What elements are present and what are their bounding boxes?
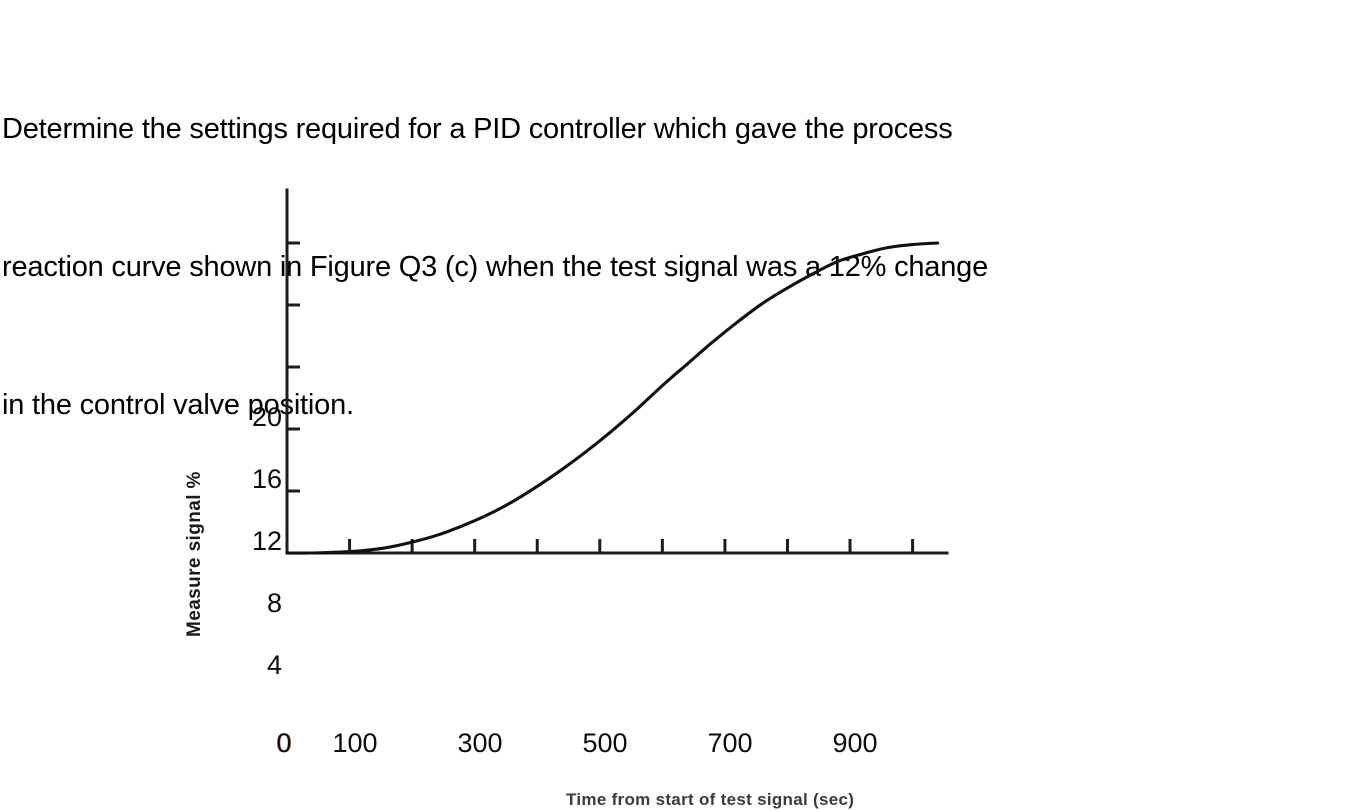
- x-tick-label-500: 500: [570, 728, 640, 759]
- plot-canvas: [0, 170, 1100, 670]
- process-reaction-curve-line: [287, 243, 938, 553]
- x-tick-label-300: 300: [445, 728, 515, 759]
- x-tick-label-0: 0: [249, 728, 319, 759]
- y-tick-label-16: 16: [232, 464, 282, 495]
- process-reaction-curve-figure: Measure signal % 20 16 12 8 4 0 100 300 …: [0, 170, 1100, 670]
- y-tick-label-20: 20: [232, 402, 282, 433]
- y-axis-ticks: [287, 243, 300, 491]
- y-tick-label-8: 8: [232, 588, 282, 619]
- y-axis-title: Measure signal %: [186, 142, 208, 392]
- x-axis-ticks: [350, 539, 913, 553]
- x-tick-label-900: 900: [820, 728, 890, 759]
- x-tick-label-700: 700: [695, 728, 765, 759]
- y-axis-title-label: Measure signal %: [184, 387, 206, 637]
- x-axis-title: Time from start of test signal (sec): [566, 790, 854, 810]
- x-tick-label-100: 100: [320, 728, 390, 759]
- y-tick-label-4: 4: [232, 650, 282, 681]
- axis-lines: [287, 190, 947, 553]
- y-tick-label-12: 12: [232, 526, 282, 557]
